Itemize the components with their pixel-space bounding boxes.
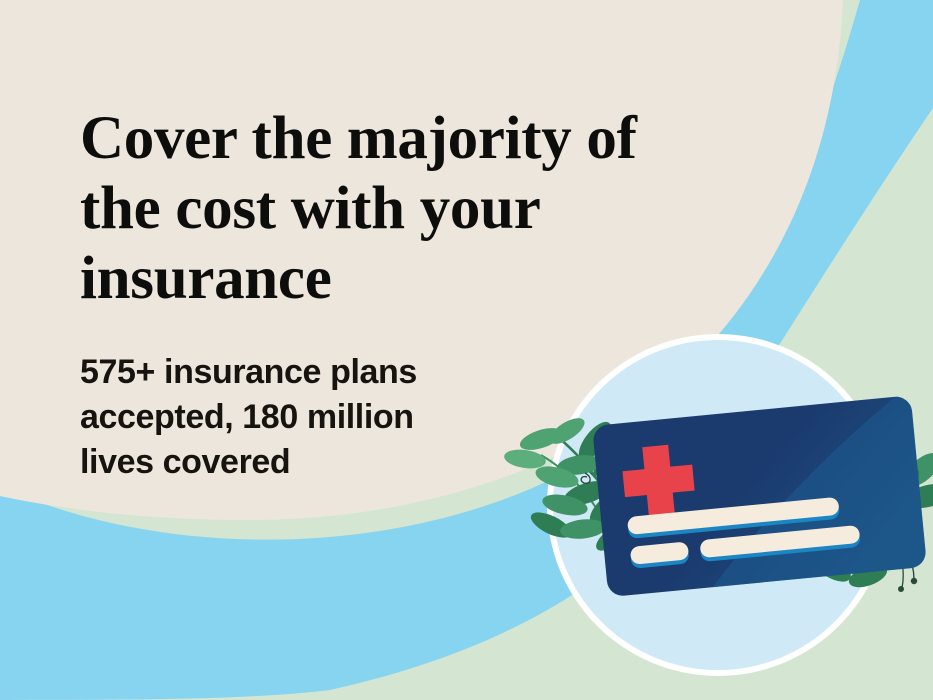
page-title: Cover the majority of the cost with your…: [80, 104, 720, 314]
text-block: Cover the majority of the cost with your…: [0, 0, 933, 700]
subtitle: 575+ insurance plans accepted, 180 milli…: [80, 350, 550, 485]
promo-slide: Cover the majority of the cost with your…: [0, 0, 933, 700]
